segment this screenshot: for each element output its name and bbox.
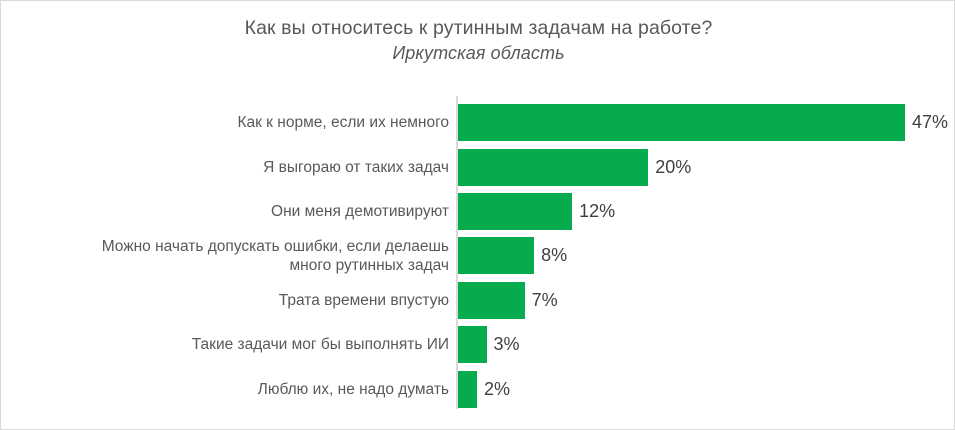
bar-row: Такие задачи мог бы выполнять ИИ3% (1, 323, 955, 367)
plot-area: Как к норме, если их немного47%Я выгораю… (1, 96, 955, 411)
bar[interactable] (458, 193, 572, 230)
bar-row: Они меня демотивируют12% (1, 189, 955, 233)
bar-value-label: 47% (912, 112, 948, 133)
category-label: Трата времени впустую (0, 278, 449, 322)
bar-value-label: 20% (655, 157, 691, 178)
bar-value-label: 7% (532, 290, 558, 311)
bar-value-label: 8% (541, 245, 567, 266)
bar[interactable] (458, 371, 477, 408)
bar-row: Как к норме, если их немного47% (1, 101, 955, 145)
bar-track: 47% (458, 101, 948, 145)
bar-value-label: 2% (484, 379, 510, 400)
category-label: Как к норме, если их немного (0, 101, 449, 145)
bar-track: 7% (458, 278, 558, 322)
bar-row: Можно начать допускать ошибки, если дела… (1, 234, 955, 278)
bar-row: Трата времени впустую7% (1, 278, 955, 322)
bar-track: 12% (458, 189, 615, 233)
bar-track: 20% (458, 145, 691, 189)
bar[interactable] (458, 149, 648, 186)
bar[interactable] (458, 237, 534, 274)
bar[interactable] (458, 282, 525, 319)
chart-title-block: Как вы относитесь к рутинным задачам на … (1, 15, 955, 66)
chart-subtitle: Иркутская область (1, 41, 955, 66)
bar-chart-figure: Как вы относитесь к рутинным задачам на … (0, 0, 955, 430)
bar-track: 8% (458, 234, 567, 278)
bar-row: Люблю их, не надо думать2% (1, 367, 955, 411)
category-label: Они меня демотивируют (0, 189, 449, 233)
bar[interactable] (458, 104, 905, 141)
category-label: Я выгораю от таких задач (0, 145, 449, 189)
bar[interactable] (458, 326, 487, 363)
bar-track: 2% (458, 367, 510, 411)
bar-value-label: 12% (579, 201, 615, 222)
chart-title: Как вы относитесь к рутинным задачам на … (1, 15, 955, 41)
category-label: Люблю их, не надо думать (0, 367, 449, 411)
category-label: Такие задачи мог бы выполнять ИИ (0, 323, 449, 367)
bar-row: Я выгораю от таких задач20% (1, 145, 955, 189)
bar-value-label: 3% (494, 334, 520, 355)
category-label: Можно начать допускать ошибки, если дела… (0, 234, 449, 278)
bar-track: 3% (458, 323, 520, 367)
